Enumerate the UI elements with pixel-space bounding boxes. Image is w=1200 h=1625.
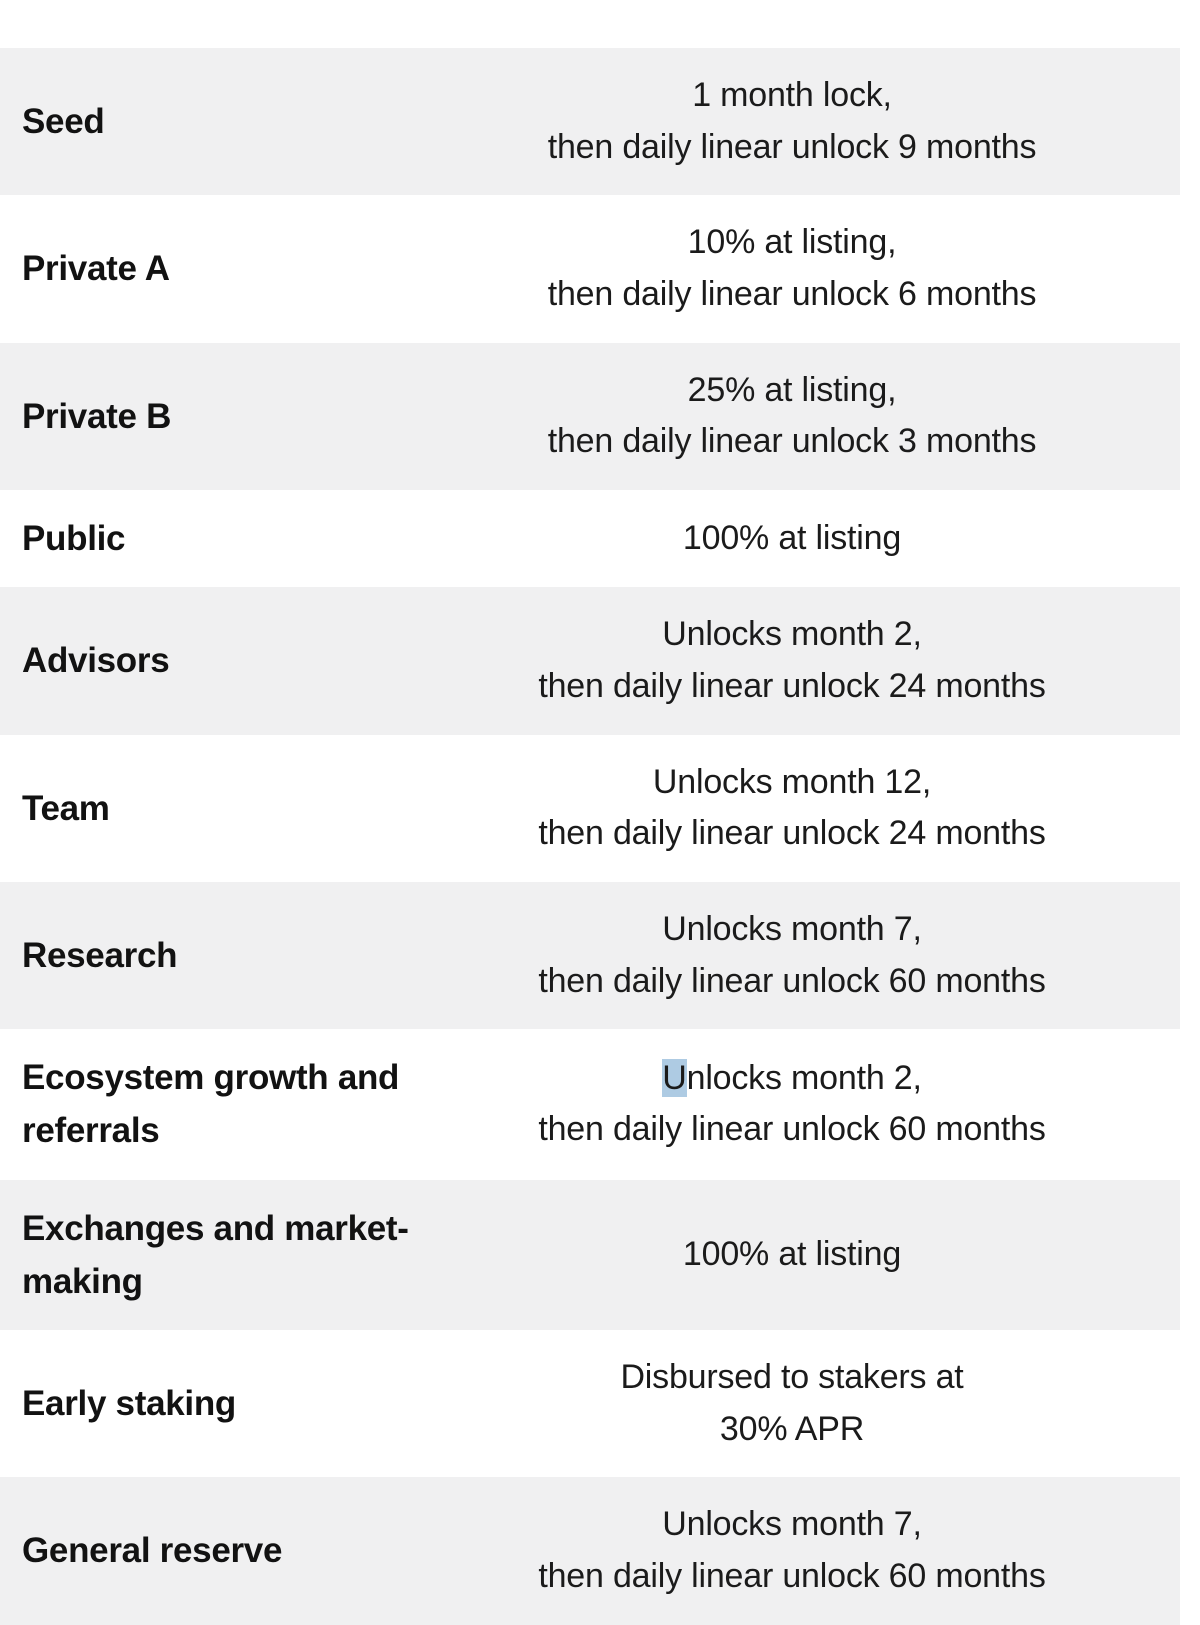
table-row: Early staking Disbursed to stakers at 30… (0, 1330, 1180, 1477)
table-row: Public 100% at listing (0, 490, 1180, 587)
schedule-line-with-selection: Unlocks month 2, (422, 1053, 1162, 1105)
table-row: Research Unlocks month 7, then daily lin… (0, 882, 1180, 1029)
table-row: Team Unlocks month 12, then daily linear… (0, 735, 1180, 882)
schedule-line: Unlocks month 2, (422, 609, 1162, 661)
schedule-line: then daily linear unlock 6 months (422, 269, 1162, 321)
schedule-line: then daily linear unlock 60 months (422, 1104, 1162, 1156)
category-label: Advisors (0, 587, 422, 734)
category-label: Private A (0, 195, 422, 342)
schedule-cell: 1 month lock, then daily linear unlock 9… (422, 48, 1180, 195)
schedule-line: 100% at listing (422, 1229, 1162, 1281)
table-row: Private B 25% at listing, then daily lin… (0, 343, 1180, 490)
text-selection-highlight[interactable]: U (662, 1059, 686, 1097)
schedule-line: then daily linear unlock 24 months (422, 661, 1162, 713)
schedule-line: Unlocks month 12, (422, 757, 1162, 809)
schedule-line: Unlocks month 7, (422, 1499, 1162, 1551)
category-label: General reserve (0, 1477, 422, 1624)
schedule-cell: 100% at listing (422, 1180, 1180, 1330)
schedule-cell: 100% at listing (422, 490, 1180, 587)
table-body: Seed 1 month lock, then daily linear unl… (0, 48, 1180, 1625)
schedule-cell: 25% at listing, then daily linear unlock… (422, 343, 1180, 490)
schedule-line: 10% at listing, (422, 217, 1162, 269)
schedule-cell: 10% at listing, then daily linear unlock… (422, 195, 1180, 342)
table-row: Exchanges and market-making 100% at list… (0, 1180, 1180, 1330)
schedule-line: then daily linear unlock 24 months (422, 808, 1162, 860)
schedule-line: 1 month lock, (422, 70, 1162, 122)
schedule-line: then daily linear unlock 60 months (422, 1551, 1162, 1603)
table-row: Private A 10% at listing, then daily lin… (0, 195, 1180, 342)
category-label: Seed (0, 48, 422, 195)
table-row: Ecosystem growth and referrals Unlocks m… (0, 1029, 1180, 1179)
schedule-line-remainder: nlocks month 2, (687, 1059, 922, 1097)
schedule-line: Unlocks month 7, (422, 904, 1162, 956)
table-row: Seed 1 month lock, then daily linear unl… (0, 48, 1180, 195)
schedule-cell: Unlocks month 2, then daily linear unloc… (422, 1029, 1180, 1179)
table-row: Advisors Unlocks month 2, then daily lin… (0, 587, 1180, 734)
table-row: General reserve Unlocks month 7, then da… (0, 1477, 1180, 1624)
category-label: Private B (0, 343, 422, 490)
category-label: Exchanges and market-making (0, 1180, 422, 1330)
schedule-cell: Unlocks month 12, then daily linear unlo… (422, 735, 1180, 882)
schedule-line: then daily linear unlock 9 months (422, 122, 1162, 174)
schedule-cell: Unlocks month 2, then daily linear unloc… (422, 587, 1180, 734)
schedule-line: then daily linear unlock 60 months (422, 956, 1162, 1008)
token-unlock-schedule-container: Seed 1 month lock, then daily linear unl… (0, 0, 1200, 1625)
category-label: Ecosystem growth and referrals (0, 1029, 422, 1179)
schedule-line: 30% APR (422, 1404, 1162, 1456)
category-label: Early staking (0, 1330, 422, 1477)
schedule-cell: Disbursed to stakers at 30% APR (422, 1330, 1180, 1477)
category-label: Team (0, 735, 422, 882)
schedule-line: then daily linear unlock 3 months (422, 416, 1162, 468)
token-unlock-schedule-table: Seed 1 month lock, then daily linear unl… (0, 48, 1180, 1625)
schedule-line: 25% at listing, (422, 365, 1162, 417)
category-label: Public (0, 490, 422, 587)
schedule-cell: Unlocks month 7, then daily linear unloc… (422, 882, 1180, 1029)
schedule-cell: Unlocks month 7, then daily linear unloc… (422, 1477, 1180, 1624)
schedule-line: 100% at listing (422, 513, 1162, 565)
category-label: Research (0, 882, 422, 1029)
schedule-line: Disbursed to stakers at (422, 1352, 1162, 1404)
